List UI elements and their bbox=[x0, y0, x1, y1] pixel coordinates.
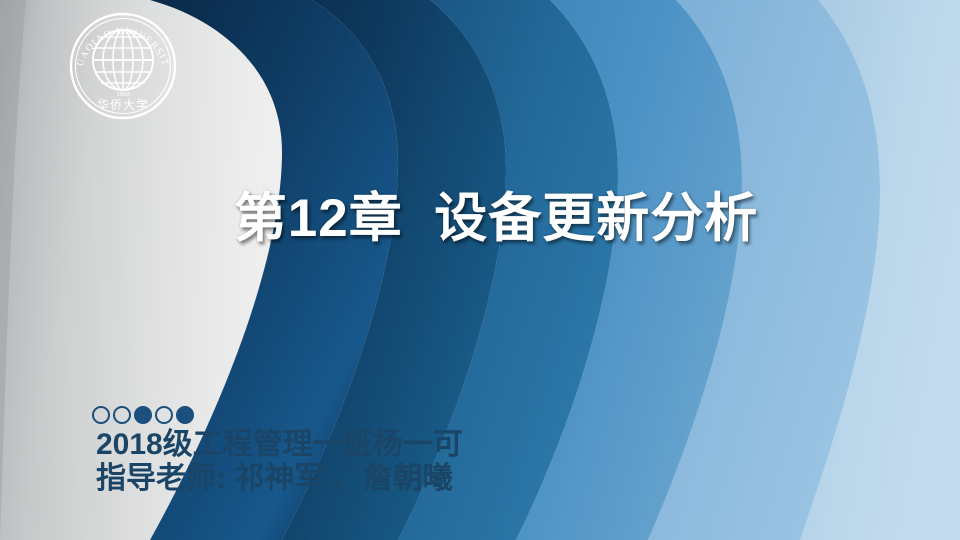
bullet-dot-1-hollow bbox=[92, 406, 110, 424]
subtitle-author-line: 2018级工程管理一班杨一可 bbox=[96, 428, 656, 462]
logo-year: 1960 bbox=[116, 91, 130, 98]
logo-chinese-name: 华侨大学 bbox=[97, 97, 149, 112]
logo-arc-text: HUAQIAO UNIVERSITY bbox=[68, 8, 171, 68]
subtitle-container: 2018级工程管理一班杨一可 指导老师: 祁神军 、詹朝曦 bbox=[96, 428, 656, 496]
bullet-dot-5-filled bbox=[176, 406, 194, 424]
bullet-dot-3-filled bbox=[134, 406, 152, 424]
bullet-dot-2-hollow bbox=[113, 406, 131, 424]
huaqiao-university-seal-logo: HUAQIAO UNIVERSITY 1960 华侨大学 bbox=[68, 8, 178, 122]
bullet-dot-4-hollow bbox=[155, 406, 173, 424]
presentation-title-slide: HUAQIAO UNIVERSITY 1960 华侨大学 第12章 设备更新分析… bbox=[0, 0, 960, 540]
title-container: 第12章 设备更新分析 bbox=[0, 188, 960, 250]
subtitle-advisor-line: 指导老师: 祁神军 、詹朝曦 bbox=[96, 462, 656, 496]
slide-title: 第12章 设备更新分析 bbox=[234, 188, 758, 250]
bullet-dot-row bbox=[92, 406, 194, 424]
